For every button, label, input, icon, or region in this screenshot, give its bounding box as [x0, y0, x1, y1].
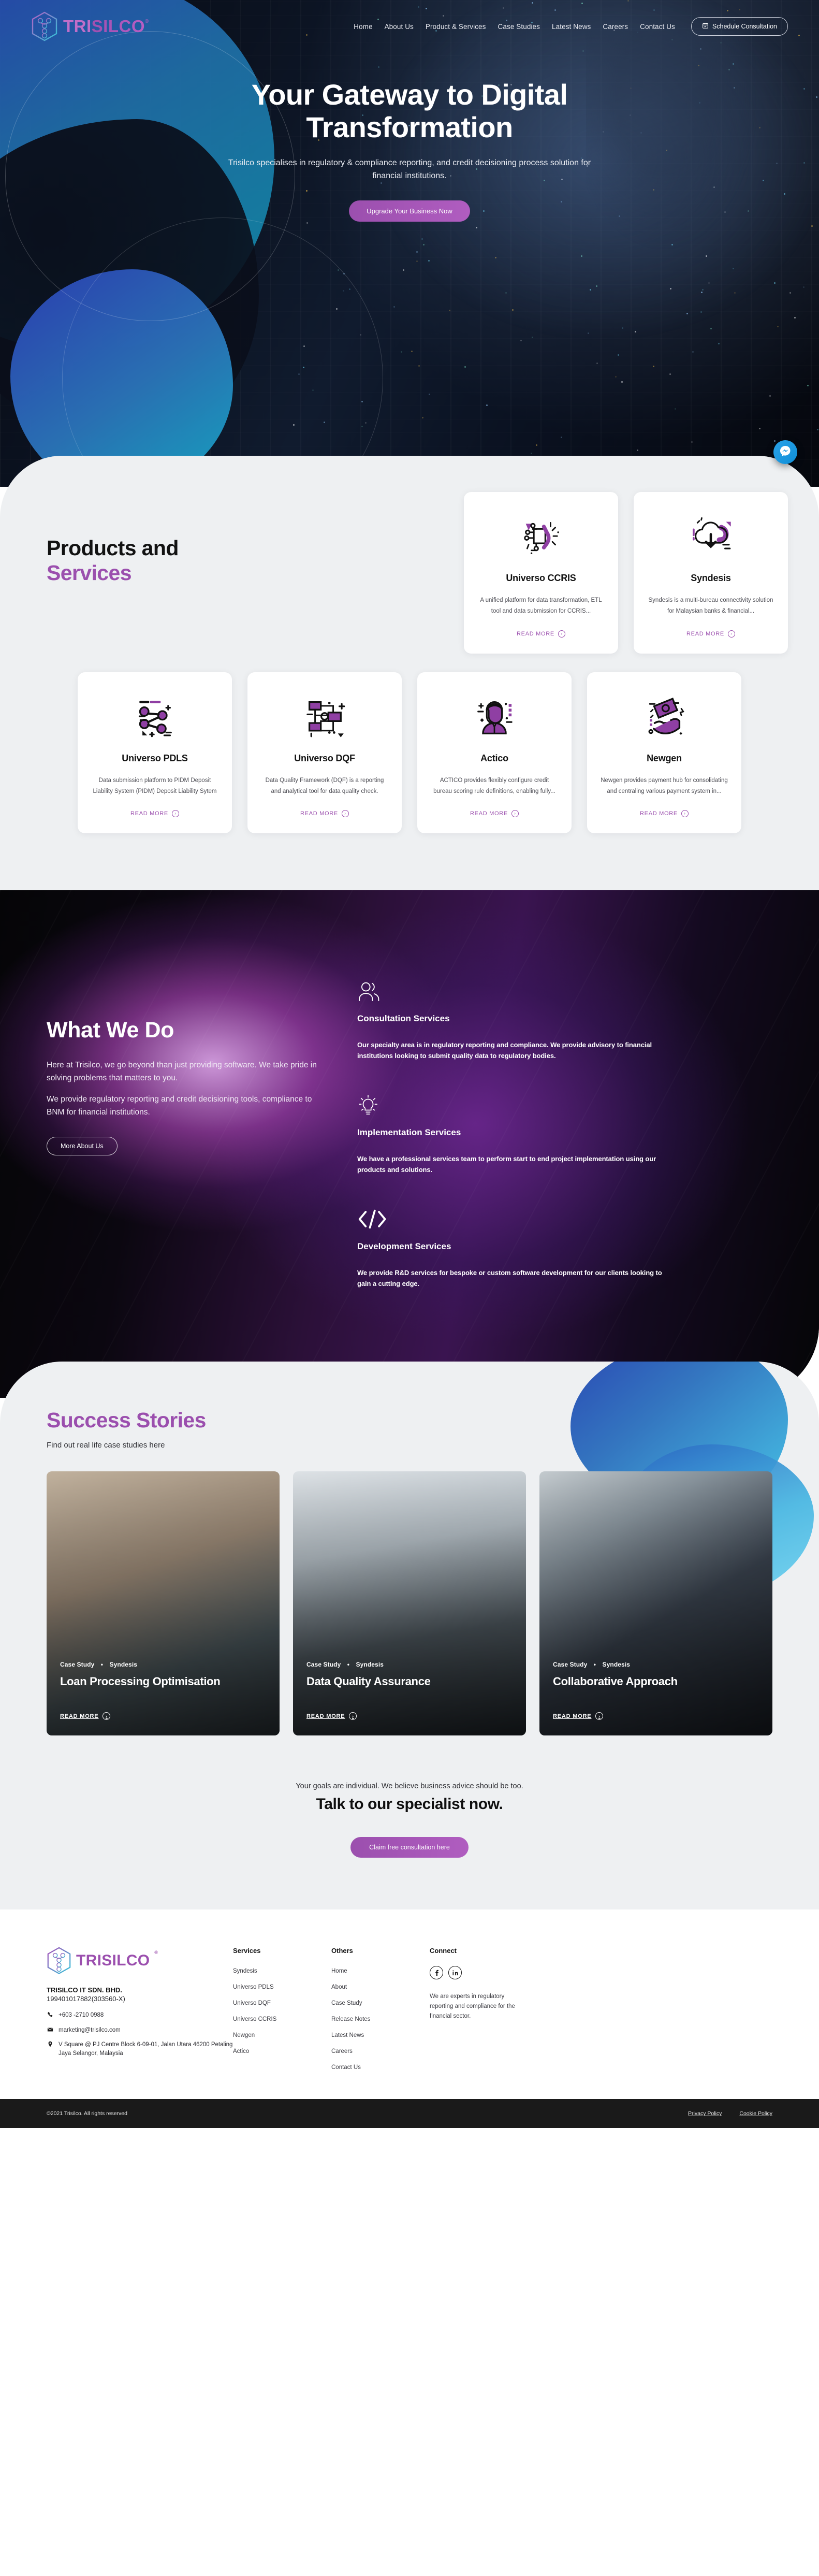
footer-link-release-notes[interactable]: Release Notes — [331, 2016, 370, 2022]
list-item: Release Notes — [331, 2014, 430, 2023]
footer-phone[interactable]: +603 -2710 0988 — [58, 2011, 104, 2020]
schedule-consultation-label: Schedule Consultation — [712, 23, 777, 30]
footer-email-row: marketing@trisilco.com — [47, 2026, 233, 2035]
footer-link-case-study[interactable]: Case Study — [331, 2000, 362, 2006]
rack-led — [615, 376, 617, 378]
case-study-title: Loan Processing Optimisation — [60, 1674, 266, 1689]
product-name: Universo DQF — [261, 753, 388, 764]
chevron-right-icon: › — [595, 1712, 603, 1720]
product-description: Newgen provides payment hub for consolid… — [601, 775, 728, 798]
linkedin-icon[interactable] — [448, 1966, 462, 1979]
talk-to-specialist-cta: Your goals are individual. We believe bu… — [31, 1735, 788, 1878]
main-nav: Home About Us Product & Services Case St… — [354, 17, 788, 36]
read-more-link[interactable]: READ MORE › — [470, 810, 519, 817]
footer-connect-heading: Connect — [430, 1947, 564, 1955]
list-item: Newgen — [233, 2030, 331, 2039]
case-study-title: Data Quality Assurance — [306, 1674, 513, 1689]
nav-item-product-services[interactable]: Product & Services — [426, 23, 486, 31]
rack-led — [653, 366, 654, 367]
logo-text-part1: TRI — [63, 17, 92, 36]
social-links — [430, 1966, 564, 1979]
rack-led — [637, 450, 638, 451]
footer-brand-column: TRISILCO ® TRISILCO IT SDN. BHD. 1994010… — [47, 1947, 233, 2078]
product-name: Syndesis — [647, 573, 774, 584]
product-name: Actico — [431, 753, 558, 764]
read-more-link[interactable]: READ MORE › — [686, 630, 735, 638]
legal-links: Privacy Policy Cookie Policy — [688, 2110, 772, 2117]
network-nodes-icon — [91, 690, 218, 745]
nav-item-careers[interactable]: Careers — [603, 23, 628, 31]
rack-led — [429, 394, 430, 395]
chevron-right-icon: › — [728, 630, 735, 638]
footer-services-column: Services Syndesis Universo PDLS Universo… — [233, 1947, 331, 2078]
case-study-product: Syndesis — [603, 1661, 631, 1668]
case-study-title: Collaborative Approach — [553, 1674, 759, 1689]
upgrade-business-button[interactable]: Upgrade Your Business Now — [349, 200, 470, 222]
lightbulb-icon — [357, 1092, 668, 1116]
list-item: Contact Us — [331, 2062, 430, 2072]
case-study-kicker: Case Study — [553, 1661, 587, 1668]
read-more-link[interactable]: READ MORE › — [517, 630, 565, 638]
hero-title: Your Gateway to Digital Transformation — [156, 79, 663, 143]
service-description: Our specialty area is in regulatory repo… — [357, 1039, 668, 1061]
rack-led — [561, 437, 562, 438]
location-pin-icon — [47, 2040, 54, 2047]
rack-led — [422, 417, 423, 418]
page-root: TRI SILCO ® Home About Us Product & Serv… — [0, 0, 819, 2128]
footer-columns: TRISILCO ® TRISILCO IT SDN. BHD. 1994010… — [31, 1947, 788, 2078]
footer-logo[interactable]: TRISILCO ® — [47, 1947, 233, 1975]
footer-others-column: Others Home About Case Study Release Not… — [331, 1947, 430, 2078]
footer-connect-column: Connect We are experts in regulatory rep… — [430, 1947, 564, 2078]
products-heading-line2: Services — [47, 560, 228, 585]
rack-led — [691, 441, 693, 443]
services-list: Consultation Services Our specialty area… — [357, 968, 668, 1320]
chip-bulb-icon — [477, 510, 605, 565]
list-item: Latest News — [331, 2030, 430, 2039]
footer-connect-description: We are experts in regulatory reporting a… — [430, 1992, 528, 2021]
copyright-text: ©2021 Trisilco. All rights reserved — [47, 2110, 127, 2117]
list-item: Syndesis — [233, 1966, 331, 1975]
service-description: We have a professional services team to … — [357, 1153, 668, 1175]
rack-led — [817, 429, 818, 430]
product-card[interactable]: Universo PDLS Data submission platform t… — [78, 672, 232, 834]
read-more-label: READ MORE — [517, 631, 554, 637]
photo-overlay — [47, 1471, 280, 1735]
case-read-more-link[interactable]: READ MORE › — [306, 1712, 513, 1720]
rack-led — [675, 408, 676, 410]
case-study-card[interactable]: Case Study • Syndesis Data Quality Assur… — [293, 1471, 526, 1735]
list-item: Case Study — [331, 1998, 430, 2007]
site-footer: TRISILCO ® TRISILCO IT SDN. BHD. 1994010… — [0, 1909, 819, 2099]
case-study-product: Syndesis — [356, 1661, 384, 1668]
list-item: About — [331, 1982, 430, 1991]
rack-led — [774, 440, 776, 442]
logo-text-part2: SILCO — [92, 17, 145, 36]
success-title-part2: Stories — [136, 1408, 206, 1432]
success-title: Success Stories — [47, 1408, 788, 1432]
read-more-link[interactable]: READ MORE › — [300, 810, 349, 817]
what-we-do-section: What We Do Here at Trisilco, we go beyon… — [0, 890, 819, 1398]
service-title: Development Services — [357, 1241, 668, 1252]
case-study-meta: Case Study • Syndesis — [60, 1661, 266, 1668]
list-item: Universo DQF — [233, 1998, 331, 2007]
chevron-right-icon: › — [349, 1712, 357, 1720]
product-card[interactable]: Syndesis Syndesis is a multi-bureau conn… — [634, 492, 788, 654]
trisilco-hex-icon — [31, 11, 58, 41]
registered-mark: ® — [145, 19, 149, 24]
footer-services-list: Syndesis Universo PDLS Universo DQF Univ… — [233, 1966, 331, 2056]
rack-led — [769, 395, 771, 397]
messenger-chat-button[interactable] — [773, 440, 797, 464]
case-study-meta: Case Study • Syndesis — [553, 1661, 759, 1668]
success-stories-section: Success Stories Find out real life case … — [0, 1362, 819, 1909]
nav-item-contact-us[interactable]: Contact Us — [640, 23, 675, 31]
rack-led — [536, 444, 537, 446]
footer-link-latest-news[interactable]: Latest News — [331, 2032, 364, 2038]
cloud-download-icon — [647, 510, 774, 565]
service-item: Development Services We provide R&D serv… — [357, 1206, 668, 1289]
two-people-icon — [357, 978, 668, 1002]
product-card[interactable]: Universo DQF Data Quality Framework (DQF… — [247, 672, 402, 834]
read-more-label: READ MORE — [300, 811, 338, 817]
product-name: Newgen — [601, 753, 728, 764]
read-more-label: READ MORE — [130, 811, 168, 817]
money-hand-icon — [601, 690, 728, 745]
bullet-separator: • — [594, 1661, 596, 1668]
footer-services-heading: Services — [233, 1947, 331, 1955]
privacy-policy-link[interactable]: Privacy Policy — [688, 2110, 722, 2117]
phone-icon — [47, 2011, 54, 2018]
footer-link-universo-ccris[interactable]: Universo CCRIS — [233, 2016, 276, 2022]
case-read-more-link[interactable]: READ MORE › — [553, 1712, 759, 1720]
footer-address: V Square @ PJ Centre Block 6-09-01, Jala… — [58, 2040, 233, 2059]
case-study-card[interactable]: Case Study • Syndesis Loan Processing Op… — [47, 1471, 280, 1735]
case-study-product: Syndesis — [110, 1661, 138, 1668]
rack-led — [486, 404, 488, 406]
footer-link-universo-dqf[interactable]: Universo DQF — [233, 2000, 271, 2006]
read-more-link[interactable]: READ MORE › — [130, 810, 179, 817]
messenger-icon — [779, 445, 792, 460]
products-top-cards: Universo CCRIS A unified platform for da… — [464, 492, 788, 654]
nav-item-about-us[interactable]: About Us — [385, 23, 414, 31]
talk-heading: Talk to our specialist now. — [31, 1796, 788, 1813]
schedule-consultation-button[interactable]: Schedule Consultation — [691, 17, 788, 36]
list-item: Actico — [233, 2046, 331, 2056]
rack-led — [306, 222, 308, 224]
products-heading-line1: Products and — [47, 536, 228, 560]
nav-item-home[interactable]: Home — [354, 23, 372, 31]
footer-link-home[interactable]: Home — [331, 1968, 347, 1974]
bullet-separator: • — [347, 1661, 349, 1668]
read-more-link[interactable]: READ MORE › — [640, 810, 689, 817]
case-read-more-link[interactable]: READ MORE › — [60, 1712, 266, 1720]
facebook-icon[interactable] — [430, 1966, 443, 1979]
logo[interactable]: TRI SILCO ® — [31, 11, 149, 41]
case-study-card[interactable]: Case Study • Syndesis Collaborative Appr… — [539, 1471, 772, 1735]
case-study-kicker: Case Study — [306, 1661, 341, 1668]
what-we-do-para1: Here at Trisilco, we go beyond than just… — [47, 1059, 321, 1084]
case-study-meta: Case Study • Syndesis — [306, 1661, 513, 1668]
service-title: Implementation Services — [357, 1127, 668, 1138]
site-header: TRI SILCO ® Home About Us Product & Serv… — [0, 0, 819, 41]
rack-led — [531, 453, 532, 454]
what-we-do-para2: We provide regulatory reporting and cred… — [47, 1093, 321, 1119]
success-title-part1: Success — [47, 1408, 136, 1432]
service-description: We provide R&D services for bespoke or c… — [357, 1267, 668, 1289]
trisilco-hex-icon — [47, 1947, 71, 1975]
success-subtitle: Find out real life case studies here — [47, 1441, 788, 1450]
cookie-policy-link[interactable]: Cookie Policy — [739, 2110, 772, 2117]
case-study-kicker: Case Study — [60, 1661, 94, 1668]
calendar-icon — [702, 22, 709, 31]
hero-section: TRI SILCO ® Home About Us Product & Serv… — [0, 0, 819, 487]
chevron-right-icon: › — [103, 1712, 110, 1720]
code-brackets-icon — [357, 1206, 668, 1230]
success-heading: Success Stories Find out real life case … — [31, 1408, 788, 1450]
footer-company-name: TRISILCO IT SDN. BHD. — [47, 1986, 233, 1994]
registered-mark: ® — [154, 1950, 158, 1955]
product-description: A unified platform for data transformati… — [477, 595, 605, 617]
service-title: Consultation Services — [357, 1014, 668, 1024]
bullet-separator: • — [101, 1661, 103, 1668]
service-item: Implementation Services We have a profes… — [357, 1092, 668, 1175]
read-more-label: READ MORE — [306, 1713, 345, 1719]
products-top-row: Products and Services — [31, 492, 788, 654]
list-item: Home — [331, 1966, 430, 1975]
footer-registration-number: 199401017882(303560-X) — [47, 1995, 233, 2003]
hero-subtitle: Trisilco specialises in regulatory & com… — [213, 157, 606, 183]
footer-link-actico[interactable]: Actico — [233, 2048, 249, 2054]
footer-link-contact-us[interactable]: Contact Us — [331, 2064, 361, 2071]
products-grid: Universo PDLS Data submission platform t… — [31, 672, 788, 834]
what-we-do-content: What We Do Here at Trisilco, we go beyon… — [31, 968, 788, 1320]
read-more-label: READ MORE — [553, 1713, 591, 1719]
products-section: Products and Services — [0, 456, 819, 890]
chevron-right-icon: › — [558, 630, 565, 638]
photo-overlay — [539, 1471, 772, 1735]
rack-led — [669, 373, 671, 375]
nav-item-case-studies[interactable]: Case Studies — [498, 23, 540, 31]
product-name: Universo PDLS — [91, 753, 218, 764]
read-more-label: READ MORE — [640, 811, 678, 817]
rack-led — [807, 385, 809, 386]
person-tie-icon — [431, 690, 558, 745]
footer-phone-row: +603 -2710 0988 — [47, 2011, 233, 2020]
product-card[interactable]: Universo CCRIS A unified platform for da… — [464, 492, 618, 654]
rack-led — [464, 366, 466, 368]
more-about-us-button[interactable]: More About Us — [47, 1137, 118, 1155]
nav-item-latest-news[interactable]: Latest News — [552, 23, 591, 31]
chevron-right-icon: › — [681, 810, 689, 817]
footer-others-list: Home About Case Study Release Notes Late… — [331, 1966, 430, 2072]
chevron-right-icon: › — [511, 810, 519, 817]
footer-link-universo-pdls[interactable]: Universo PDLS — [233, 1984, 274, 1990]
chevron-right-icon: › — [342, 810, 349, 817]
footer-link-newgen[interactable]: Newgen — [233, 2032, 255, 2038]
product-name: Universo CCRIS — [477, 573, 605, 584]
product-card[interactable]: Newgen Newgen provides payment hub for c… — [587, 672, 741, 834]
product-description: Data Quality Framework (DQF) is a report… — [261, 775, 388, 798]
footer-link-careers[interactable]: Careers — [331, 2048, 353, 2054]
footer-logo-text: TRISILCO — [76, 1952, 150, 1970]
product-description: Data submission platform to PIDM Deposit… — [91, 775, 218, 798]
footer-bottom-bar: ©2021 Trisilco. All rights reserved Priv… — [0, 2099, 819, 2128]
list-item: Careers — [331, 2046, 430, 2056]
service-item: Consultation Services Our specialty area… — [357, 978, 668, 1061]
list-item: Universo CCRIS — [233, 2014, 331, 2023]
hero-title-line1: Your Gateway to Digital — [252, 78, 568, 111]
read-more-label: READ MORE — [686, 631, 724, 637]
rack-led — [621, 381, 623, 383]
list-item: Universo PDLS — [233, 1982, 331, 1991]
claim-consultation-button[interactable]: Claim free consultation here — [350, 1837, 469, 1858]
product-card[interactable]: Actico ACTICO provides flexibly configur… — [417, 672, 572, 834]
footer-link-about[interactable]: About — [331, 1984, 347, 1990]
what-we-do-intro: What We Do Here at Trisilco, we go beyon… — [31, 968, 321, 1320]
footer-others-heading: Others — [331, 1947, 430, 1955]
products-heading: Products and Services — [31, 492, 228, 586]
envelope-icon — [47, 2026, 54, 2033]
photo-overlay — [293, 1471, 526, 1735]
chevron-right-icon: › — [172, 810, 179, 817]
read-more-label: READ MORE — [470, 811, 508, 817]
footer-email[interactable]: marketing@trisilco.com — [58, 2026, 121, 2035]
product-description: ACTICO provides flexibly configure credi… — [431, 775, 558, 798]
hero-title-line2: Transformation — [306, 111, 513, 143]
footer-address-row: V Square @ PJ Centre Block 6-09-01, Jala… — [47, 2040, 233, 2059]
hero-copy: Your Gateway to Digital Transformation T… — [0, 41, 819, 222]
product-description: Syndesis is a multi-bureau connectivity … — [647, 595, 774, 617]
rack-led — [759, 428, 760, 429]
what-we-do-title: What We Do — [47, 1018, 321, 1043]
case-study-list: Case Study • Syndesis Loan Processing Op… — [31, 1471, 788, 1735]
talk-lead-text: Your goals are individual. We believe bu… — [31, 1782, 788, 1790]
footer-link-syndesis[interactable]: Syndesis — [233, 1968, 257, 1974]
flowchart-icon — [261, 690, 388, 745]
read-more-label: READ MORE — [60, 1713, 98, 1719]
